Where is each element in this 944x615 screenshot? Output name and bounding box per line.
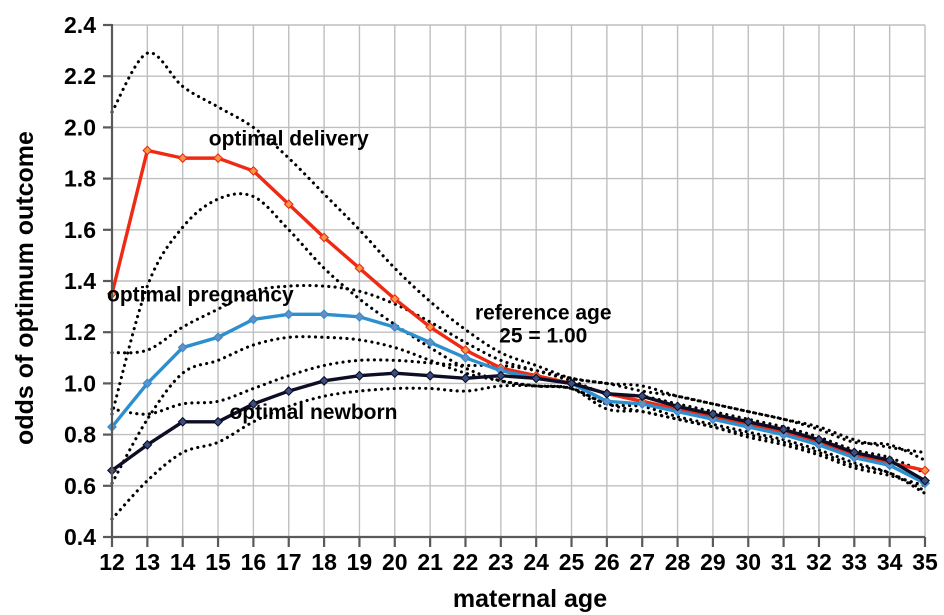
x-tick-label: 25 [559,549,585,575]
y-tick-label: 0.8 [64,422,96,448]
data-point-marker [285,387,293,395]
y-tick-label: 1.0 [64,370,96,396]
data-point-marker [355,372,363,380]
data-point-marker [461,374,469,382]
data-point-marker [355,313,363,321]
x-tick-label: 32 [806,549,832,575]
x-tick-label: 33 [842,549,868,575]
series-line-optimal-newborn [112,373,925,481]
x-tick-label: 21 [417,549,443,575]
y-tick-label: 1.2 [64,319,96,345]
x-tick-label: 17 [276,549,302,575]
x-tick-label: 34 [877,549,903,575]
x-tick-label: 16 [241,549,267,575]
y-tick-label: 0.6 [64,473,96,499]
x-tick-label: 18 [311,549,337,575]
y-tick-label: 2.4 [64,12,96,38]
confidence-band-upper [112,53,925,453]
y-tick-label: 1.6 [64,217,96,243]
data-point-marker [426,372,434,380]
chart-container: 0.40.60.81.01.21.41.61.82.02.22.41213141… [0,0,944,615]
y-tick-label: 2.0 [64,114,96,140]
x-tick-label: 20 [382,549,408,575]
x-tick-label: 19 [347,549,373,575]
y-axis-title: odds of optimum outcome [11,131,39,445]
grid-lines [112,25,925,537]
y-tick-label: 1.4 [64,268,96,294]
data-point-marker [320,310,328,318]
x-tick-label: 26 [594,549,620,575]
odds-of-optimum-outcome-line-chart: 0.40.60.81.01.21.41.61.82.02.22.41213141… [0,0,944,615]
x-tick-label: 15 [205,549,231,575]
x-tick-label: 24 [523,549,549,575]
x-tick-label: 35 [912,549,938,575]
x-tick-label: 29 [700,549,726,575]
y-tick-label: 2.2 [64,63,96,89]
y-tick-label: 1.8 [64,166,96,192]
annotation-optimal-delivery: optimal delivery [209,127,369,150]
data-point-marker [178,154,186,162]
x-tick-label: 22 [453,549,479,575]
x-tick-label: 13 [135,549,161,575]
x-tick-label: 23 [488,549,514,575]
data-point-marker [391,369,399,377]
data-point-marker [214,154,222,162]
x-axis-title: maternal age [453,585,607,613]
data-point-marker [143,146,151,154]
data-point-marker [921,466,929,474]
x-tick-label: 12 [99,549,125,575]
x-tick-label: 31 [771,549,797,575]
annotation-optimal-newborn: optimal newborn [229,401,397,424]
x-tick-label: 27 [629,549,655,575]
annotation-reference-age-line1: reference age [475,301,612,324]
data-point-marker [603,389,611,397]
annotation-optimal-pregnancy: optimal pregnancy [107,283,294,306]
annotation-reference-age-line2: 25 = 1.00 [499,324,587,347]
x-tick-label: 14 [170,549,196,575]
y-tick-label: 0.4 [64,524,96,550]
x-tick-label: 28 [665,549,691,575]
x-tick-label: 30 [735,549,761,575]
data-point-marker [285,310,293,318]
